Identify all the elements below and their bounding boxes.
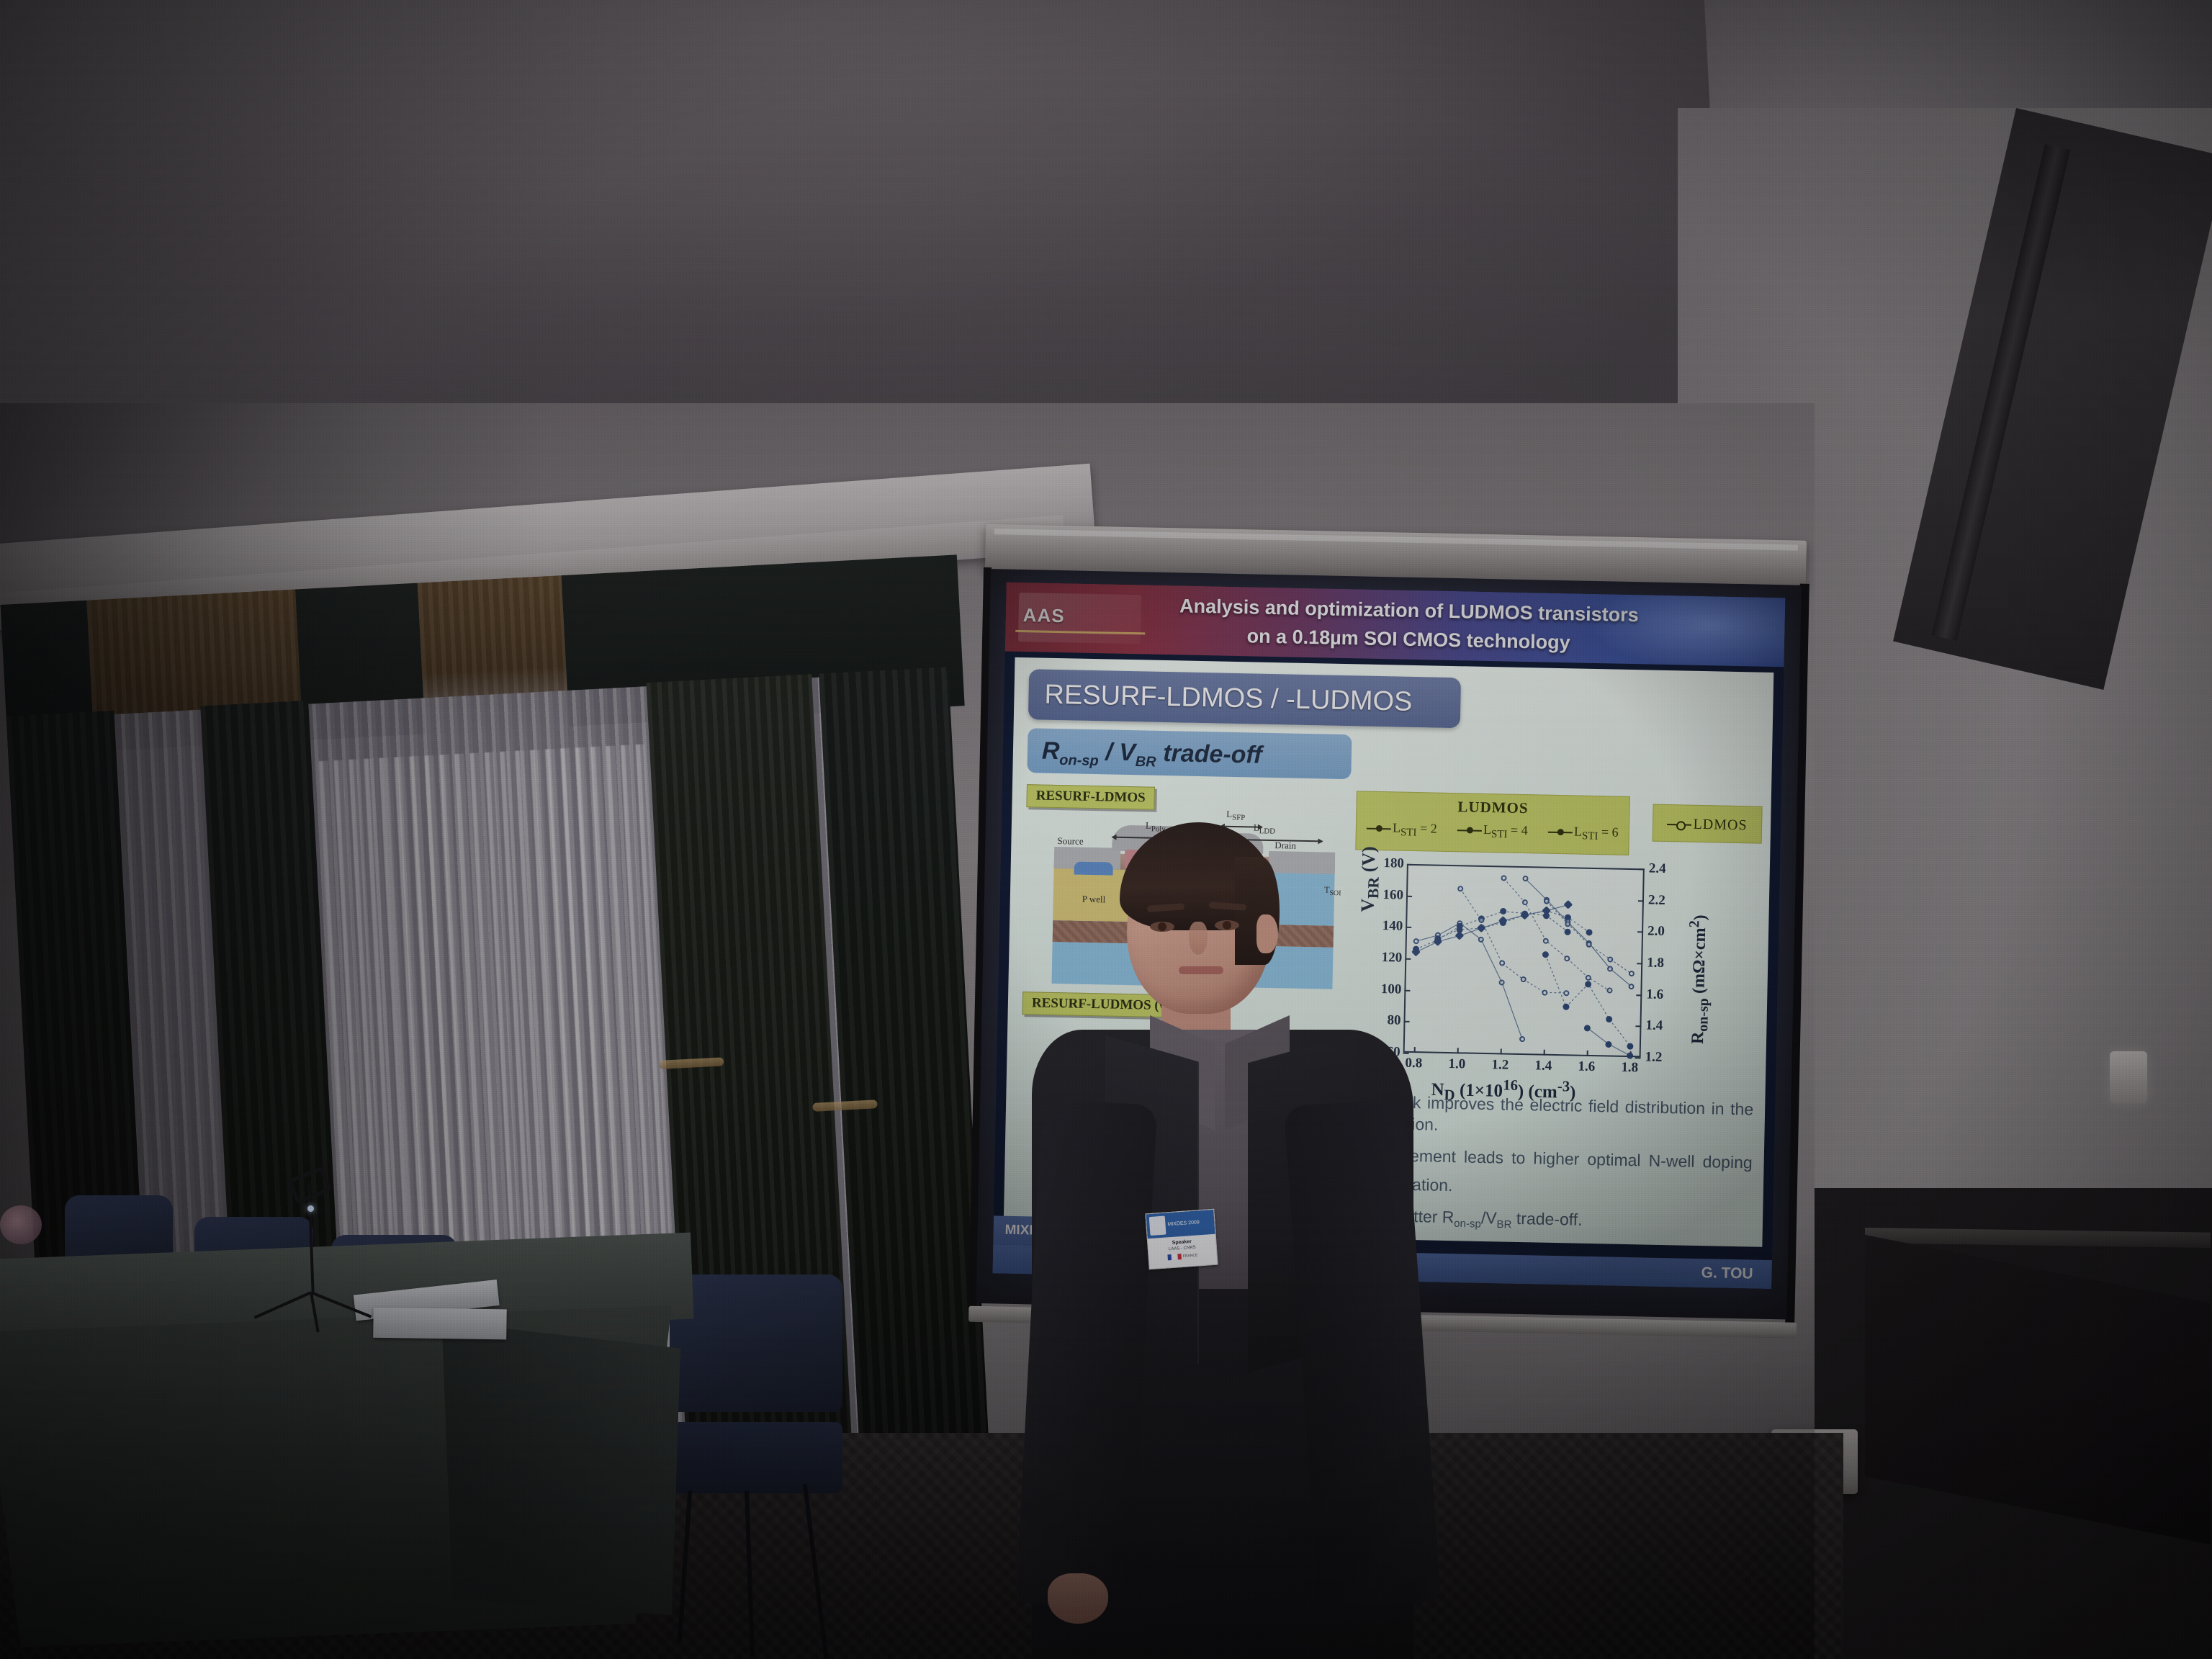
chart-y2tick-6: 2.4 xyxy=(1649,861,1666,877)
xlabel-sup2: -3 xyxy=(1557,1077,1570,1094)
device1-tag: RESURF-LDMOS xyxy=(1026,784,1155,810)
chart-y2tick-mark-3 xyxy=(1637,963,1642,964)
chart-xtick-1: 1.0 xyxy=(1448,1056,1465,1072)
y2label-end: ) xyxy=(1691,914,1709,921)
y2label-onsp: on-sp xyxy=(1695,998,1712,1032)
chart-y2tick-mark-5 xyxy=(1638,900,1644,902)
presenter-nose xyxy=(1189,922,1208,955)
legend-entry-1-sub: STI xyxy=(1491,829,1508,840)
xlabel-sup: 16 xyxy=(1503,1076,1518,1094)
dark-furniture-top xyxy=(1865,1228,2211,1248)
legend-entry-1-pre: L xyxy=(1483,822,1491,837)
legend-marker-2-icon xyxy=(1548,832,1573,834)
chart-point-s1-7 xyxy=(1564,928,1570,935)
legend-ldmos-marker-icon xyxy=(1668,824,1692,826)
chart-y2tick-mark-2 xyxy=(1636,994,1642,996)
legend-entry-2-pre: L xyxy=(1574,824,1582,838)
chart-legend-ldmos: LDMOS xyxy=(1653,804,1763,844)
chart-y2tick-2: 1.6 xyxy=(1646,986,1663,1002)
presenter-ear xyxy=(1256,914,1278,953)
chart-xtick-mark-2 xyxy=(1501,1048,1502,1054)
chart-xtick-4: 1.6 xyxy=(1578,1059,1595,1075)
chart-y2tick-0: 1.2 xyxy=(1645,1049,1662,1065)
chart-xtick-mark-1 xyxy=(1457,1048,1459,1053)
slide-section-title: RESURF-LDMOS / -LUDMOS comparison xyxy=(1028,669,1461,728)
chart-y2tick-mark-6 xyxy=(1639,868,1645,870)
chart-y2tick-4: 2.0 xyxy=(1647,924,1665,940)
presenter-mouth xyxy=(1179,966,1223,974)
chart-y2tick-1: 1.4 xyxy=(1645,1018,1663,1034)
y2label-r: R xyxy=(1689,1031,1707,1044)
chart-y2tick-3: 1.8 xyxy=(1647,956,1664,971)
legend-marker-1-icon xyxy=(1457,829,1482,832)
chart-y2tick-5: 2.2 xyxy=(1648,892,1665,908)
dark-wall-panel xyxy=(1865,1235,2211,1545)
chart-y2tick-mark-0 xyxy=(1635,1057,1641,1058)
chart-y2tick-mark-1 xyxy=(1635,1026,1641,1028)
legend-entry-2-post: = 6 xyxy=(1598,824,1619,840)
chart-y2-axis-label: Ron-sp (mΩ×cm2) xyxy=(1684,914,1714,1044)
chart-xtick-mark-4 xyxy=(1587,1051,1588,1056)
subtitle-end: trade-off xyxy=(1156,739,1262,769)
slide-logo-text: AAS xyxy=(1022,604,1065,627)
wall-sconce xyxy=(2110,1051,2147,1103)
slide-header-title: Analysis and optimization of LUDMOS tran… xyxy=(1135,590,1683,659)
chart-point-s1-4 xyxy=(1500,908,1506,914)
microphone-led-indicator xyxy=(307,1205,314,1212)
subtitle-onsp: on-sp xyxy=(1059,752,1099,769)
y2label-unit: (mΩ×cm xyxy=(1689,927,1709,998)
chart-xtick-2: 1.2 xyxy=(1491,1057,1509,1073)
wall-shadow-bottom xyxy=(0,1224,1815,1659)
chart-y2tick-mark-4 xyxy=(1637,932,1643,933)
subtitle-mid: / V xyxy=(1099,738,1136,766)
legend-entry-2-sub: STI xyxy=(1582,830,1599,842)
slide-header-band: AAS Analysis and optimization of LUDMOS … xyxy=(1005,583,1786,667)
subtitle-r: R xyxy=(1042,737,1060,765)
legend-entry-2: LSTI = 6 xyxy=(1548,824,1619,844)
legend-entry-1: LSTI = 4 xyxy=(1457,822,1528,842)
chart-point-s9-2 xyxy=(1627,1052,1633,1058)
presenter-eye-left xyxy=(1150,922,1174,932)
chart-xtick-3: 1.4 xyxy=(1534,1058,1552,1074)
legend-ldmos-label: LDMOS xyxy=(1693,817,1747,834)
presenter-eye-right xyxy=(1215,920,1239,930)
y2label-sup: 2 xyxy=(1686,920,1702,927)
chart-xtick-mark-3 xyxy=(1544,1050,1545,1056)
photo-scene: AAS Analysis and optimization of LUDMOS … xyxy=(0,0,2212,1659)
chart-xtick-5: 1.8 xyxy=(1621,1060,1638,1076)
slide-subtitle: Ron-sp / VBR trade-off xyxy=(1027,728,1352,779)
legend-entry-1-post: = 4 xyxy=(1507,823,1528,838)
subtitle-br: BR xyxy=(1135,754,1156,770)
